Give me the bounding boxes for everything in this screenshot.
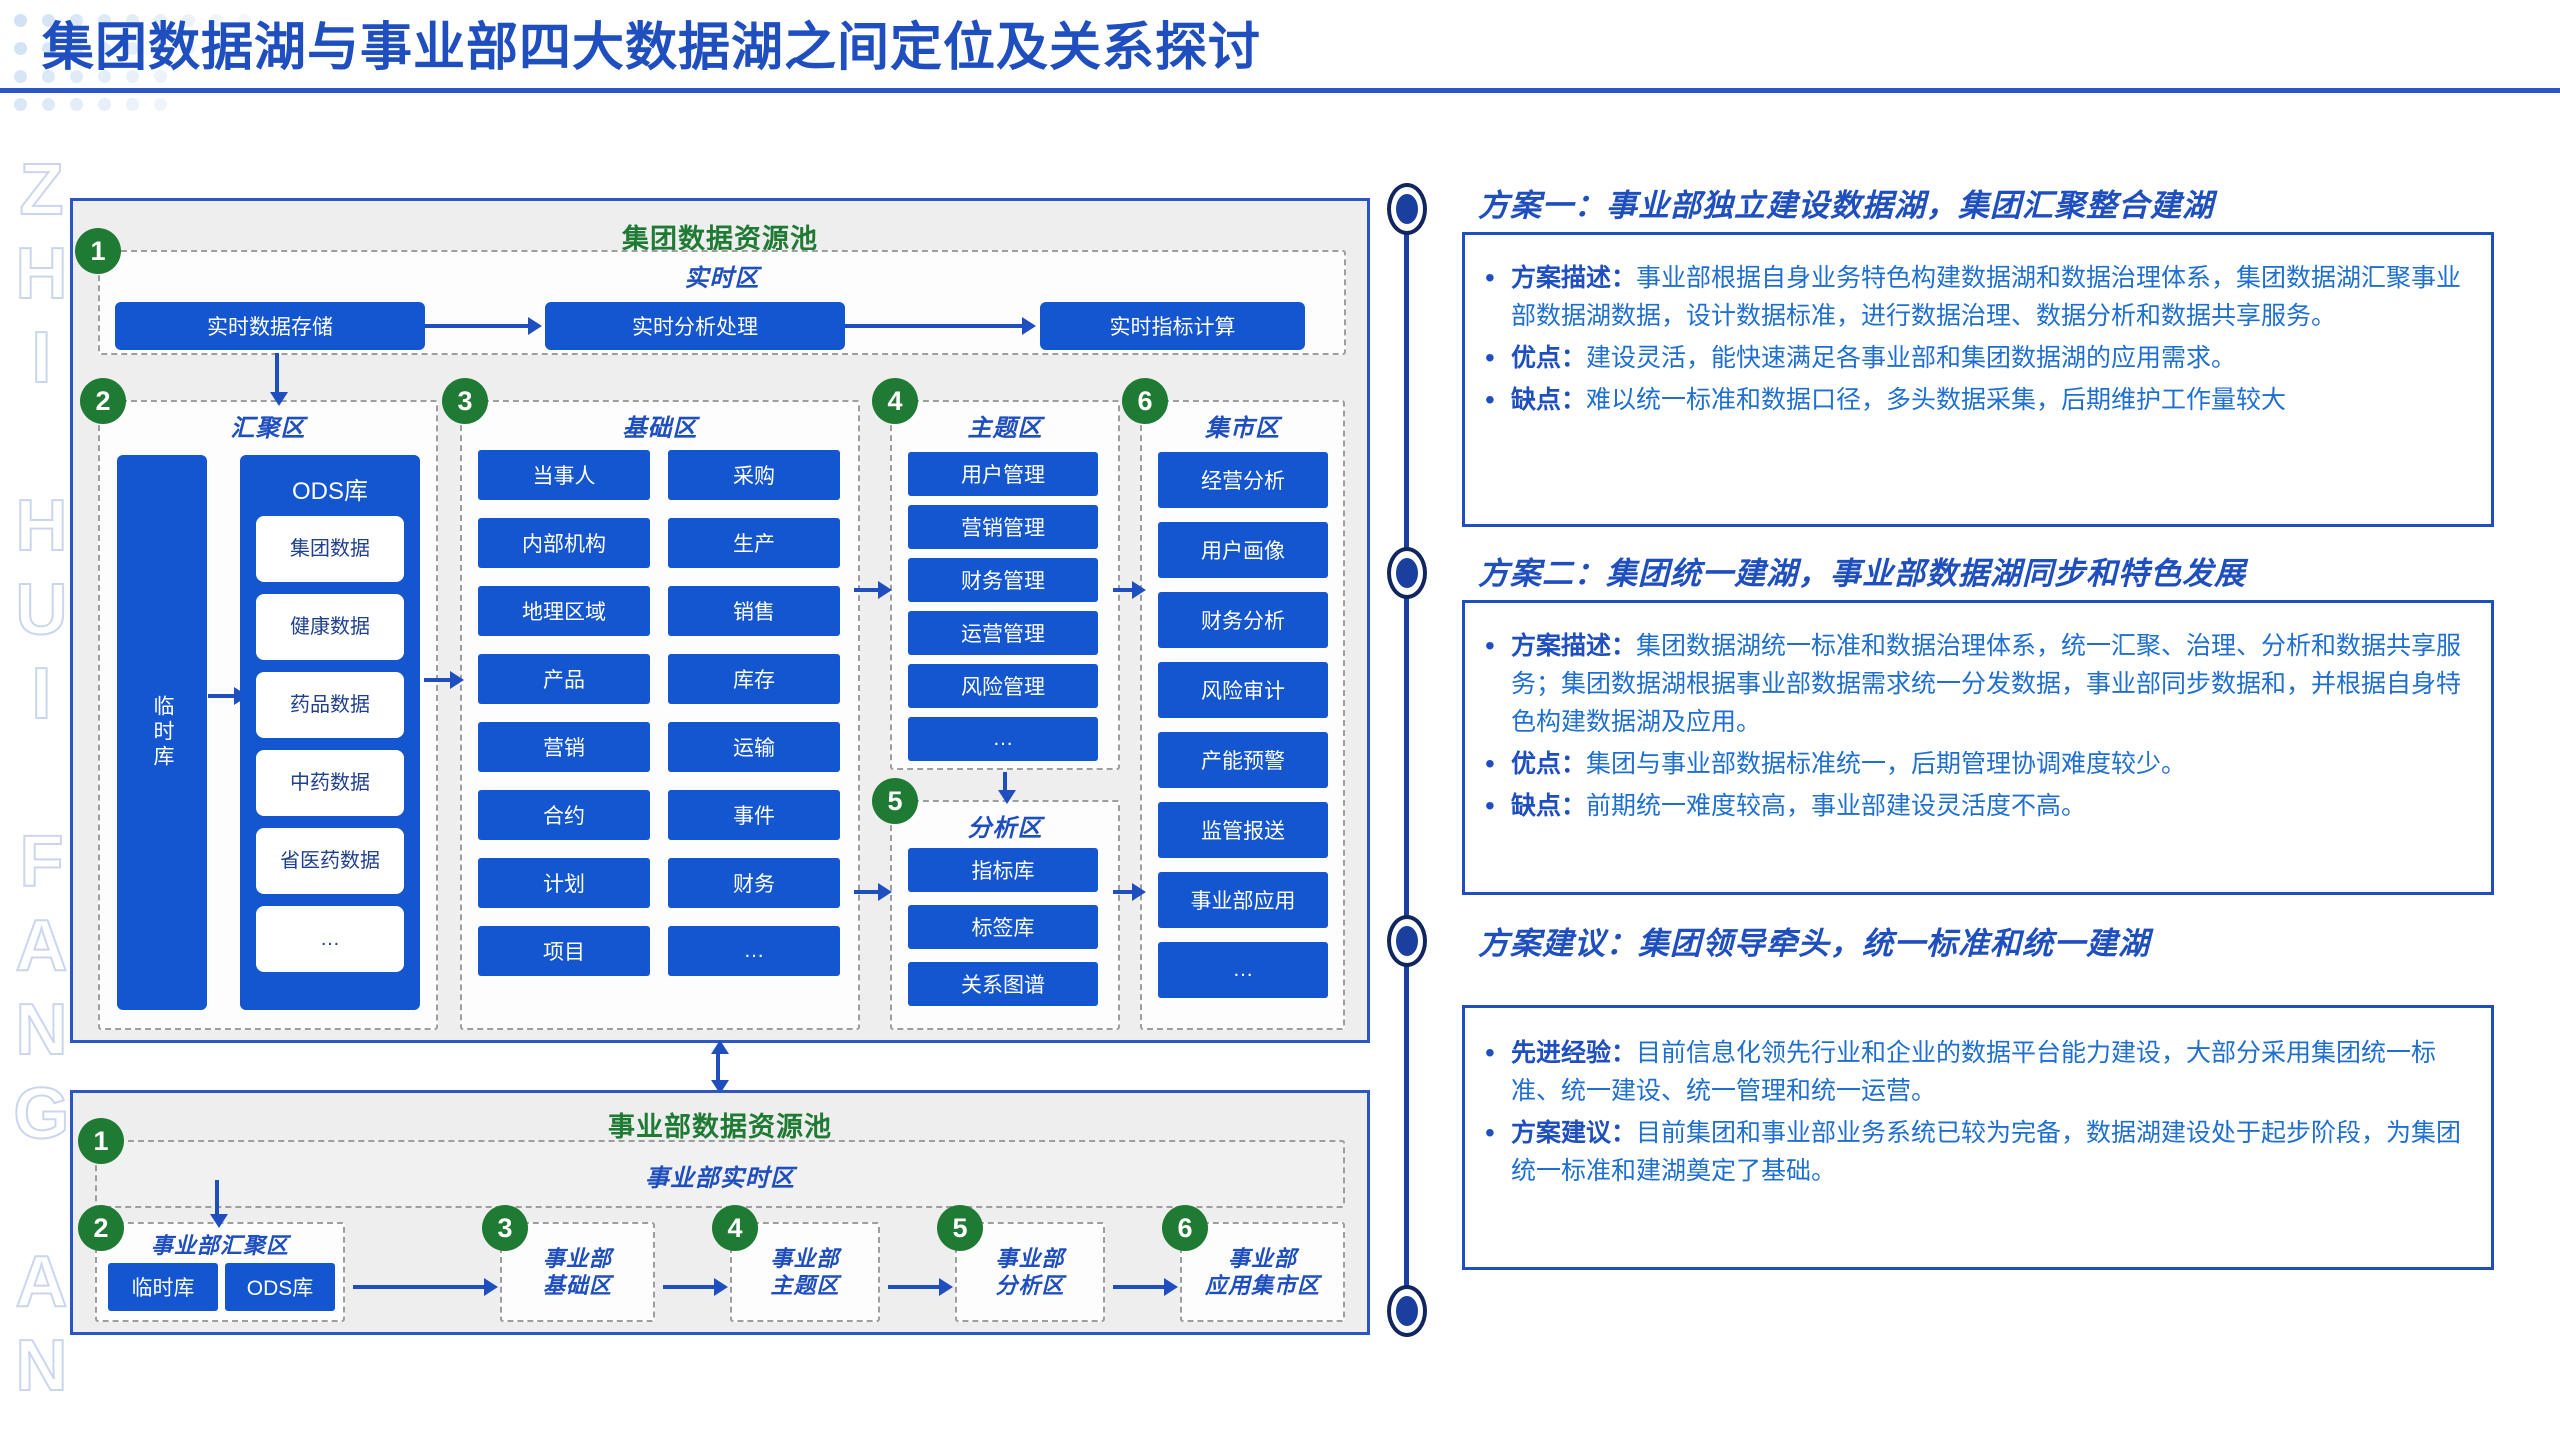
subject-item-0[interactable]: 用户管理 (908, 452, 1098, 496)
arrow-bu-stage-1 (663, 1285, 716, 1289)
scheme-2-bullet-label-0: 方案描述： (1511, 632, 1636, 660)
convergence-zone-title: 汇聚区 (98, 408, 438, 443)
arrow-rt-0-1 (425, 324, 530, 328)
market-list: 经营分析用户画像财务分析风险审计产能预警监管报送事业部应用… (1158, 452, 1328, 1012)
ods-item-1[interactable]: 健康数据 (256, 594, 404, 660)
arrowhead-analysis-market (1132, 883, 1146, 901)
arrowhead-found-analysis (878, 883, 892, 901)
market-item-6[interactable]: 事业部应用 (1158, 872, 1328, 928)
timeline-node-2[interactable] (1387, 547, 1427, 599)
title-divider (0, 88, 2560, 93)
foundation-item-right-1[interactable]: 生产 (668, 518, 840, 568)
arrowhead-bu-stage-3 (1164, 1278, 1178, 1296)
badge-bu-stage-0: 3 (482, 1205, 528, 1251)
scheme-2-bullet-2: 缺点：前期统一难度较高，事业部建设灵活度不高。 (1475, 787, 2467, 825)
foundation-col-right: 采购生产销售库存运输事件财务… (668, 450, 848, 994)
subject-list: 用户管理营销管理财务管理运营管理风险管理… (908, 452, 1103, 770)
arrowhead-pools-up (711, 1040, 729, 1054)
scheme-2-bullet-0: 方案描述：集团数据湖统一标准和数据治理体系，统一汇聚、治理、分析和数据共享服务；… (1475, 627, 2467, 741)
page-title: 集团数据湖与事业部四大数据湖之间定位及关系探讨 (42, 5, 1261, 80)
bu-realtime-zone-title: 事业部实时区 (95, 1158, 1345, 1193)
market-item-2[interactable]: 财务分析 (1158, 592, 1328, 648)
analysis-zone-title: 分析区 (890, 808, 1120, 843)
subject-item-4[interactable]: 风险管理 (908, 664, 1098, 708)
subject-item-1[interactable]: 营销管理 (908, 505, 1098, 549)
badge-1-bu-realtime: 1 (78, 1118, 124, 1164)
scheme-2-bullet-1: 优点：集团与事业部数据标准统一，后期管理协调难度较少。 (1475, 745, 2467, 783)
foundation-zone-title: 基础区 (460, 408, 860, 443)
arrow-rt-1-2 (845, 324, 1023, 328)
foundation-item-right-2[interactable]: 销售 (668, 586, 840, 636)
analysis-item-0[interactable]: 指标库 (908, 848, 1098, 892)
arrow-bu-stage-0 (353, 1285, 486, 1289)
badge-bu-stage-1: 4 (712, 1205, 758, 1251)
arrow-bu-rt-conv (215, 1180, 219, 1218)
scheme-2-bullet-text-0: 集团数据湖统一标准和数据治理体系，统一汇聚、治理、分析和数据共享服务；集团数据湖… (1511, 632, 2461, 736)
foundation-item-left-7[interactable]: 项目 (478, 926, 650, 976)
watermark-text: ZHI HUI FANG AN WEN KU (4, 150, 79, 1440)
badge-bu-stage-3: 6 (1162, 1205, 1208, 1251)
scheme-3-bullet-label-0: 先进经验： (1511, 1039, 1636, 1067)
analysis-list: 指标库标签库关系图谱 (908, 848, 1103, 1019)
arrowhead-bu-rt-conv (210, 1214, 228, 1228)
foundation-item-right-3[interactable]: 库存 (668, 654, 840, 704)
arrowhead-rt-0-1 (528, 317, 542, 335)
analysis-item-2[interactable]: 关系图谱 (908, 962, 1098, 1006)
badge-1-realtime: 1 (75, 228, 121, 274)
ods-item-4[interactable]: 省医药数据 (256, 828, 404, 894)
scheme-2-box: 方案描述：集团数据湖统一标准和数据治理体系，统一汇聚、治理、分析和数据共享服务；… (1462, 600, 2494, 895)
badge-3-foundation: 3 (442, 378, 488, 424)
subject-item-5[interactable]: … (908, 717, 1098, 761)
scheme-3-bullet-label-1: 方案建议： (1511, 1119, 1636, 1147)
badge-5-analysis: 5 (872, 778, 918, 824)
ods-item-5[interactable]: … (256, 906, 404, 972)
realtime-item-0[interactable]: 实时数据存储 (115, 302, 425, 350)
scheme-1-box: 方案描述：事业部根据自身业务特色构建数据湖和数据治理体系，集团数据湖汇聚事业部数… (1462, 232, 2494, 527)
subject-zone-title: 主题区 (890, 408, 1120, 443)
foundation-item-left-2[interactable]: 地理区域 (478, 586, 650, 636)
bu-conv-item-1[interactable]: ODS库 (225, 1263, 335, 1311)
bu-stage-label-3: 事业部 应用集市区 (1205, 1245, 1320, 1300)
foundation-item-left-3[interactable]: 产品 (478, 654, 650, 704)
realtime-item-2[interactable]: 实时指标计算 (1040, 302, 1305, 350)
market-item-7[interactable]: … (1158, 942, 1328, 998)
market-item-4[interactable]: 产能预警 (1158, 732, 1328, 788)
scheme-1-heading: 方案一：事业部独立建设数据湖，集团汇聚整合建湖 (1478, 180, 2214, 225)
bu-conv-item-0[interactable]: 临时库 (108, 1263, 218, 1311)
badge-2-convergence: 2 (80, 378, 126, 424)
arrowhead-subject-analysis (998, 790, 1016, 804)
foundation-item-right-7[interactable]: … (668, 926, 840, 976)
timeline-node-1[interactable] (1387, 183, 1427, 235)
scheme-1-bullet-2: 缺点：难以统一标准和数据口径，多头数据采集，后期维护工作量较大 (1475, 381, 2467, 419)
scheme-1-bullet-text-2: 难以统一标准和数据口径，多头数据采集，后期维护工作量较大 (1586, 386, 2286, 414)
scheme-3-bullet-1: 方案建议：目前集团和事业部业务系统已较为完备，数据湖建设处于起步阶段，为集团统一… (1475, 1114, 2467, 1190)
scheme-3-bullet-0: 先进经验：目前信息化领先行业和企业的数据平台能力建设，大部分采用集团统一标准、统… (1475, 1034, 2467, 1110)
foundation-col-left: 当事人内部机构地理区域产品营销合约计划项目 (478, 450, 658, 994)
scheme-1-bullet-0: 方案描述：事业部根据自身业务特色构建数据湖和数据治理体系，集团数据湖汇聚事业部数… (1475, 259, 2467, 335)
timeline-node-3[interactable] (1387, 915, 1427, 967)
analysis-item-1[interactable]: 标签库 (908, 905, 1098, 949)
badge-bu-stage-2: 5 (937, 1205, 983, 1251)
realtime-zone-title: 实时区 (98, 258, 1346, 293)
ods-item-0[interactable]: 集团数据 (256, 516, 404, 582)
foundation-item-right-4[interactable]: 运输 (668, 722, 840, 772)
foundation-item-left-4[interactable]: 营销 (478, 722, 650, 772)
market-zone-title: 集市区 (1140, 408, 1345, 443)
foundation-item-left-1[interactable]: 内部机构 (478, 518, 650, 568)
market-item-1[interactable]: 用户画像 (1158, 522, 1328, 578)
bu-stage-label-0: 事业部 基础区 (543, 1245, 612, 1300)
scheme-2-bullet-label-2: 缺点： (1511, 792, 1586, 820)
foundation-item-left-5[interactable]: 合约 (478, 790, 650, 840)
ods-title: ODS库 (292, 471, 368, 506)
subject-item-3[interactable]: 运营管理 (908, 611, 1098, 655)
arrow-bu-stage-2 (888, 1285, 941, 1289)
scheme-3-bullets: 先进经验：目前信息化领先行业和企业的数据平台能力建设，大部分采用集团统一标准、统… (1465, 1008, 2491, 1190)
foundation-item-right-5[interactable]: 事件 (668, 790, 840, 840)
bu-stage-label-2: 事业部 分析区 (995, 1245, 1064, 1300)
foundation-item-left-6[interactable]: 计划 (478, 858, 650, 908)
arrowhead-bu-stage-2 (939, 1278, 953, 1296)
timeline-spine (1404, 205, 1409, 1325)
market-item-5[interactable]: 监管报送 (1158, 802, 1328, 858)
arrowhead-bu-stage-1 (714, 1278, 728, 1296)
scheme-1-bullet-text-0: 事业部根据自身业务特色构建数据湖和数据治理体系，集团数据湖汇聚事业部数据湖数据，… (1511, 264, 2461, 330)
market-item-0[interactable]: 经营分析 (1158, 452, 1328, 508)
scheme-1-bullet-label-2: 缺点： (1511, 386, 1586, 414)
arrowhead-rt-conv (270, 392, 288, 406)
scheme-1-bullet-label-0: 方案描述： (1511, 264, 1636, 292)
arrowhead-rt-1-2 (1022, 317, 1036, 335)
scheme-1-bullet-1: 优点：建设灵活，能快速满足各事业部和集团数据湖的应用需求。 (1475, 339, 2467, 377)
scheme-3-bullet-text-1: 目前集团和事业部业务系统已较为完备，数据湖建设处于起步阶段，为集团统一标准和建湖… (1511, 1119, 2461, 1185)
scheme-2-bullet-text-2: 前期统一难度较高，事业部建设灵活度不高。 (1586, 792, 2086, 820)
scheme-3-bullet-text-0: 目前信息化领先行业和企业的数据平台能力建设，大部分采用集团统一标准、统一建设、统… (1511, 1039, 2436, 1105)
bu-convergence-zone-title: 事业部汇聚区 (95, 1228, 345, 1260)
arrowhead-found-subject (878, 581, 892, 599)
arrowhead-conv-found (450, 671, 464, 689)
subject-item-2[interactable]: 财务管理 (908, 558, 1098, 602)
market-item-3[interactable]: 风险审计 (1158, 662, 1328, 718)
badge-6-market: 6 (1122, 378, 1168, 424)
ods-item-2[interactable]: 药品数据 (256, 672, 404, 738)
arrow-bu-stage-3 (1113, 1285, 1166, 1289)
bu-pool-title: 事业部数据资源池 (73, 1105, 1367, 1144)
bu-stage-label-1: 事业部 主题区 (770, 1245, 839, 1300)
arrowhead-bu-stage-0 (484, 1278, 498, 1296)
page-header: 集团数据湖与事业部四大数据湖之间定位及关系探讨 (0, 0, 2560, 78)
scheme-2-bullets: 方案描述：集团数据湖统一标准和数据治理体系，统一汇聚、治理、分析和数据共享服务；… (1465, 603, 2491, 825)
scheme-2-bullet-label-1: 优点： (1511, 750, 1586, 778)
scheme-2-bullet-text-1: 集团与事业部数据标准统一，后期管理协调难度较少。 (1586, 750, 2186, 778)
badge-4-subject: 4 (872, 378, 918, 424)
arrowhead-subject-market (1132, 581, 1146, 599)
foundation-item-right-0[interactable]: 采购 (668, 450, 840, 500)
scheme-3-box: 先进经验：目前信息化领先行业和企业的数据平台能力建设，大部分采用集团统一标准、统… (1462, 1005, 2494, 1270)
scheme-2-heading: 方案二：集团统一建湖，事业部数据湖同步和特色发展 (1478, 548, 2246, 593)
ods-item-3[interactable]: 中药数据 (256, 750, 404, 816)
scheme-1-bullet-label-1: 优点： (1511, 344, 1586, 372)
foundation-item-right-6[interactable]: 财务 (668, 858, 840, 908)
foundation-item-left-0[interactable]: 当事人 (478, 450, 650, 500)
scheme-1-bullet-text-1: 建设灵活，能快速满足各事业部和集团数据湖的应用需求。 (1586, 344, 2236, 372)
timeline-node-4[interactable] (1387, 1285, 1427, 1337)
scheme-3-heading: 方案建议：集团领导牵头，统一标准和统一建湖 (1478, 918, 2150, 963)
ods-library-box[interactable]: ODS库 集团数据健康数据药品数据中药数据省医药数据… (240, 455, 420, 1010)
scheme-1-bullets: 方案描述：事业部根据自身业务特色构建数据湖和数据治理体系，集团数据湖汇聚事业部数… (1465, 235, 2491, 419)
badge-2-bu-convergence: 2 (78, 1205, 124, 1251)
realtime-item-1[interactable]: 实时分析处理 (545, 302, 845, 350)
temp-store-box[interactable]: 临时库 (117, 455, 207, 1010)
